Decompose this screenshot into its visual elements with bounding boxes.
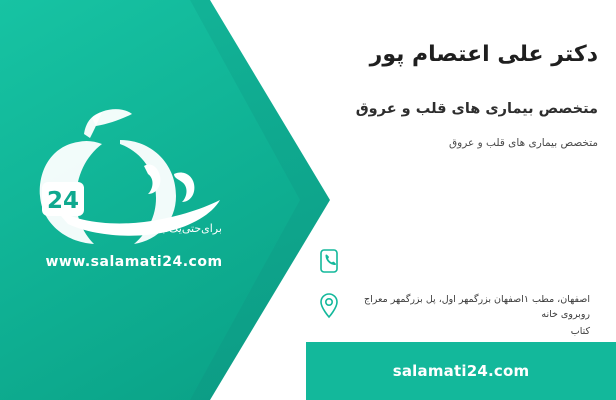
logo-website: www.salamati24.com <box>24 254 244 270</box>
address-line-1: اصفهان، مطب ۱اصفهان بزرگمهر اول، پل بزرگ… <box>364 294 590 320</box>
address-text: اصفهان، مطب ۱اصفهان بزرگمهر اول، پل بزرگ… <box>342 292 590 340</box>
address-row: اصفهان، مطب ۱اصفهان بزرگمهر اول، پل بزرگ… <box>316 292 598 340</box>
logo: 24 برای‌حتی‌یک‌لبخند www.salamati24.com <box>24 104 244 274</box>
logo-badge-24: 24 <box>47 188 79 214</box>
footer-website: salamati24.com <box>393 362 530 380</box>
location-pin-icon <box>316 292 342 322</box>
phone-row <box>316 248 598 278</box>
salamati-logo-icon: 24 برای‌حتی‌یک‌لبخند <box>24 104 244 254</box>
doctor-specialty-sub: متخصص بیماری های قلب و عروق <box>316 137 598 149</box>
footer-bar: salamati24.com <box>306 342 616 400</box>
contact-info: اصفهان، مطب ۱اصفهان بزرگمهر اول، پل بزرگ… <box>316 248 598 354</box>
logo-tagline: برای‌حتی‌یک‌لبخند <box>146 222 222 235</box>
doctor-name: دکتر علی اعتصام پور <box>316 38 598 71</box>
doctor-specialty: متخصص بیماری های قلب و عروق <box>316 101 598 117</box>
business-card: 24 برای‌حتی‌یک‌لبخند www.salamati24.com … <box>0 0 616 400</box>
phone-icon <box>316 248 342 278</box>
address-line-2: کتاب <box>352 324 590 339</box>
